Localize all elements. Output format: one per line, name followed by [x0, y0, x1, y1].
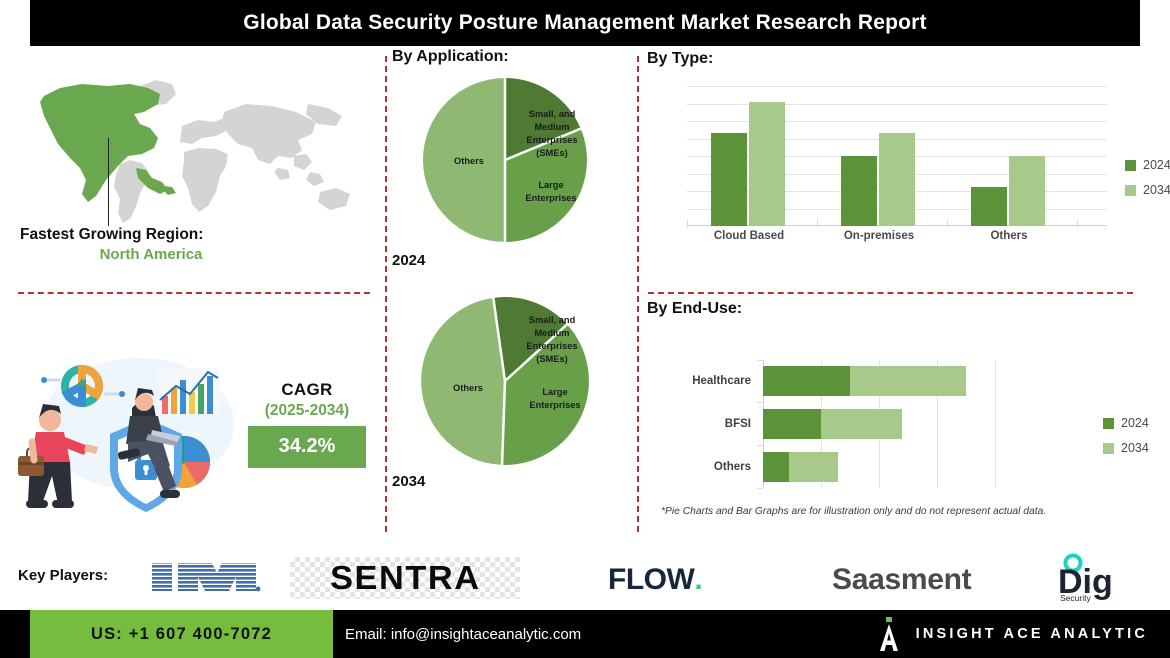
fastest-growing-region: Fastest Growing Region: North America: [20, 226, 360, 263]
by-end-use-bar-chart: Healthcare BFSI Others: [763, 360, 1053, 488]
svg-text:Enterprises: Enterprises: [526, 135, 577, 145]
category-label-others-enduse: Others: [714, 452, 763, 482]
cagr-years: (2025-2034): [248, 402, 366, 420]
key-players-label: Key Players:: [18, 567, 108, 584]
legend-swatch-2024: [1125, 160, 1136, 171]
axis-tick: [1077, 220, 1078, 227]
by-type-category-labels: Cloud Based On-premises Others: [687, 230, 1107, 248]
by-type-bar-chart: [687, 86, 1107, 226]
legend-item-2034: 2034: [1103, 441, 1149, 455]
svg-text:Medium: Medium: [534, 122, 569, 132]
bar-group-others: [971, 156, 1045, 226]
bar-others: Others: [763, 452, 838, 482]
by-end-use-legend: 2024 2034: [1103, 416, 1149, 455]
legend-item-2024: 2024: [1125, 158, 1170, 172]
by-type-legend: 2024 2034: [1125, 158, 1170, 197]
category-label-on-premises: On-premises: [844, 230, 914, 242]
saasment-logo-icon: Saasment: [832, 563, 971, 597]
axis-tick: [687, 220, 688, 227]
map-pointer-line: [108, 138, 109, 226]
bar-others-2034-enduse: [789, 452, 838, 482]
footer-bar: US: +1 607 400-7072 Email: info@insighta…: [0, 610, 1170, 658]
bar-on-premises-2034: [879, 133, 915, 226]
bar-others-2024-enduse: [763, 452, 789, 482]
axis-tick: [817, 220, 818, 227]
saasment-wordmark: Saasment: [832, 563, 971, 597]
svg-text:Enterprises: Enterprises: [526, 341, 577, 351]
bar-bfsi-2024: [763, 409, 821, 439]
bar-cloud-based-2024: [711, 133, 747, 226]
legend-label-2024: 2024: [1121, 416, 1149, 430]
bar-others-2024: [971, 187, 1007, 226]
bar-bfsi-2034: [821, 409, 902, 439]
gridline: [687, 86, 1107, 87]
pie-2034-label-smes: Small, and: [529, 315, 576, 325]
by-application-title: By Application:: [392, 48, 637, 66]
legend-label-2024: 2024: [1143, 158, 1170, 172]
flow-logo-icon: FLOW.: [608, 563, 702, 597]
category-label-healthcare: Healthcare: [692, 366, 763, 396]
region-panel: Fastest Growing Region: North America: [0, 48, 385, 538]
region-value: North America: [20, 246, 360, 263]
flow-wordmark: FLOW: [608, 563, 694, 597]
bar-healthcare-2024: [763, 366, 850, 396]
svg-text:Security: Security: [1060, 593, 1091, 603]
chart-disclaimer: *Pie Charts and Bar Graphs are for illus…: [661, 506, 1161, 517]
gridline: [995, 360, 996, 488]
bar-healthcare-2034: [850, 366, 966, 396]
legend-swatch-2034: [1103, 443, 1114, 454]
svg-text:Enterprises: Enterprises: [529, 400, 580, 410]
svg-text:(SMEs): (SMEs): [536, 148, 568, 158]
by-end-use-title: By End-Use:: [647, 300, 742, 318]
bar-on-premises-2024: [841, 156, 877, 226]
svg-text:Medium: Medium: [534, 328, 569, 338]
legend-label-2034: 2034: [1121, 441, 1149, 455]
world-map-icon: [24, 60, 364, 240]
divider-vertical-right: [637, 56, 639, 532]
bar-cloud-based-2034: [749, 102, 785, 226]
divider-vertical-left: [385, 56, 387, 532]
axis-tick: [757, 360, 763, 361]
by-type-title: By Type:: [647, 50, 713, 68]
brand-name: INSIGHT ACE ANALYTIC: [916, 626, 1148, 642]
pie-2034-year: 2034: [392, 473, 637, 490]
right-charts-panel: By Type:: [645, 48, 1170, 538]
flow-dot: .: [694, 563, 702, 597]
svg-text:(SMEs): (SMEs): [536, 354, 568, 364]
insight-ace-a-mark-icon: [876, 617, 902, 651]
page-title: Global Data Security Posture Management …: [243, 11, 926, 35]
pie-2024-label-large: Large: [538, 180, 563, 190]
bar-healthcare: Healthcare: [763, 366, 966, 396]
footer-brand: INSIGHT ACE ANALYTIC: [876, 610, 1148, 658]
pie-2034-label-large: Large: [542, 387, 567, 397]
category-label-cloud-based: Cloud Based: [714, 230, 784, 242]
pie-chart-2034: Others Small, and Medium Enterprises (SM…: [392, 291, 637, 490]
axis-tick: [947, 220, 948, 227]
axis-tick: [757, 488, 763, 489]
data-security-people-illustration-icon: [8, 338, 258, 528]
pie-chart-2024: Others Small, and Medium Enterprises (SM…: [392, 72, 637, 269]
key-players-row: Key Players: SENTRA FLOW. S: [0, 545, 1170, 610]
pie-2024-label-smes: Small, and: [529, 109, 576, 119]
cagr-value: 34.2%: [248, 426, 366, 468]
legend-item-2024: 2024: [1103, 416, 1149, 430]
footer-phone[interactable]: US: +1 607 400-7072: [30, 610, 333, 658]
sentra-logo-icon: SENTRA: [290, 557, 520, 599]
dig-security-logo-icon: Dig Security: [1052, 553, 1152, 603]
bar-others-2034: [1009, 156, 1045, 226]
pie-2024-year: 2024: [392, 252, 637, 269]
header-banner: Global Data Security Posture Management …: [30, 0, 1140, 46]
ibm-logo-icon: [150, 557, 262, 597]
category-label-others: Others: [990, 230, 1027, 242]
sentra-wordmark: SENTRA: [330, 559, 480, 597]
pie-2024-label-others: Others: [454, 156, 484, 166]
cagr-block: CAGR (2025-2034) 34.2%: [248, 380, 366, 468]
bar-bfsi: BFSI: [763, 409, 902, 439]
category-label-bfsi: BFSI: [725, 409, 763, 439]
legend-label-2034: 2034: [1143, 183, 1170, 197]
by-application-panel: By Application: Others: [392, 48, 637, 538]
bar-group-on-premises: [841, 133, 915, 226]
infographic-page: Global Data Security Posture Management …: [0, 0, 1170, 658]
axis-tick: [757, 445, 763, 446]
legend-item-2034: 2034: [1125, 183, 1170, 197]
legend-swatch-2024: [1103, 418, 1114, 429]
bar-group-cloud-based: [711, 102, 785, 226]
legend-swatch-2034: [1125, 185, 1136, 196]
svg-text:Enterprises: Enterprises: [525, 193, 576, 203]
axis-tick: [757, 402, 763, 403]
cagr-title: CAGR: [248, 380, 366, 400]
pie-2034-label-others: Others: [453, 383, 483, 393]
footer-email[interactable]: Email: info@insightaceanalytic.com: [345, 610, 581, 658]
region-label: Fastest Growing Region:: [20, 226, 360, 244]
